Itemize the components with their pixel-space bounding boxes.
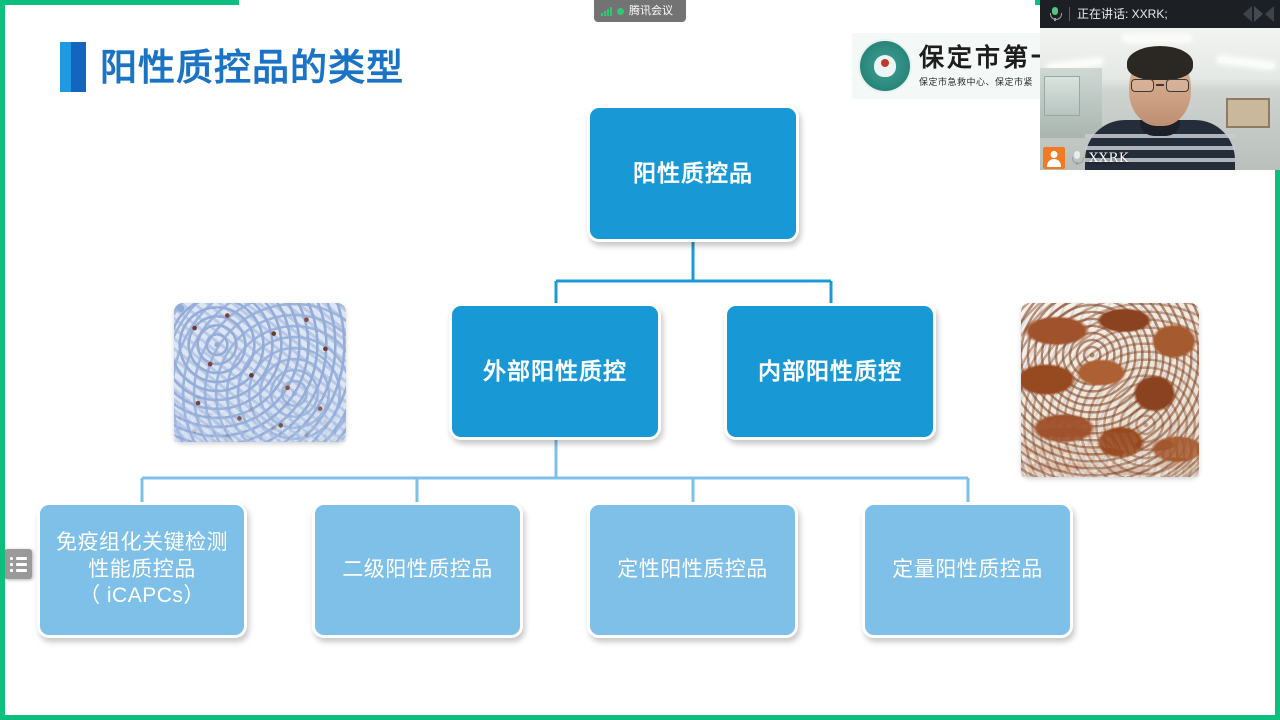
flowchart-node-icapcs[interactable]: 免疫组化关键检测 性能质控品 （ iCAPCs） — [37, 502, 247, 638]
flowchart-node-internal[interactable]: 内部阳性质控 — [724, 303, 936, 440]
double-chevron-icon[interactable] — [1243, 6, 1274, 22]
green-dot-icon — [617, 8, 624, 15]
flowchart-node-second-level[interactable]: 二级阳性质控品 — [312, 502, 523, 638]
micrograph-right — [1021, 303, 1199, 477]
signal-bars-icon — [601, 7, 612, 16]
video-panel[interactable]: 正在讲话: XXRK; XXRK — [1040, 0, 1280, 170]
flowchart-node-qualitative[interactable]: 定性阳性质控品 — [587, 502, 798, 638]
person-avatar-icon — [1043, 147, 1065, 169]
microphone-icon — [1048, 6, 1062, 22]
list-menu-icon[interactable] — [4, 549, 32, 579]
participant-glasses — [1131, 78, 1189, 92]
room-window — [1044, 76, 1080, 116]
flowchart-node-external[interactable]: 外部阳性质控 — [449, 303, 661, 440]
flowchart-node-quantitative[interactable]: 定量阳性质控品 — [862, 502, 1073, 638]
flowchart-node-root[interactable]: 阳性质控品 — [587, 105, 799, 242]
microphone-icon[interactable] — [1070, 150, 1084, 166]
micrograph-left — [174, 303, 346, 442]
participant-name-bar: XXRK — [1040, 146, 1129, 170]
participant-hair — [1127, 46, 1193, 80]
ceiling-light — [1124, 36, 1190, 41]
video-panel-header: 正在讲话: XXRK; — [1040, 0, 1280, 28]
participant-name: XXRK — [1089, 152, 1129, 165]
wall-picture-frame — [1226, 98, 1270, 128]
header-divider — [1069, 7, 1070, 21]
frame-top-left-segment — [5, 0, 239, 5]
meeting-status-pill[interactable]: 腾讯会议 — [594, 0, 686, 22]
meeting-app-label: 腾讯会议 — [629, 6, 673, 17]
speaking-status-text: 正在讲话: XXRK; — [1077, 8, 1168, 20]
video-feed[interactable]: XXRK — [1040, 28, 1280, 170]
